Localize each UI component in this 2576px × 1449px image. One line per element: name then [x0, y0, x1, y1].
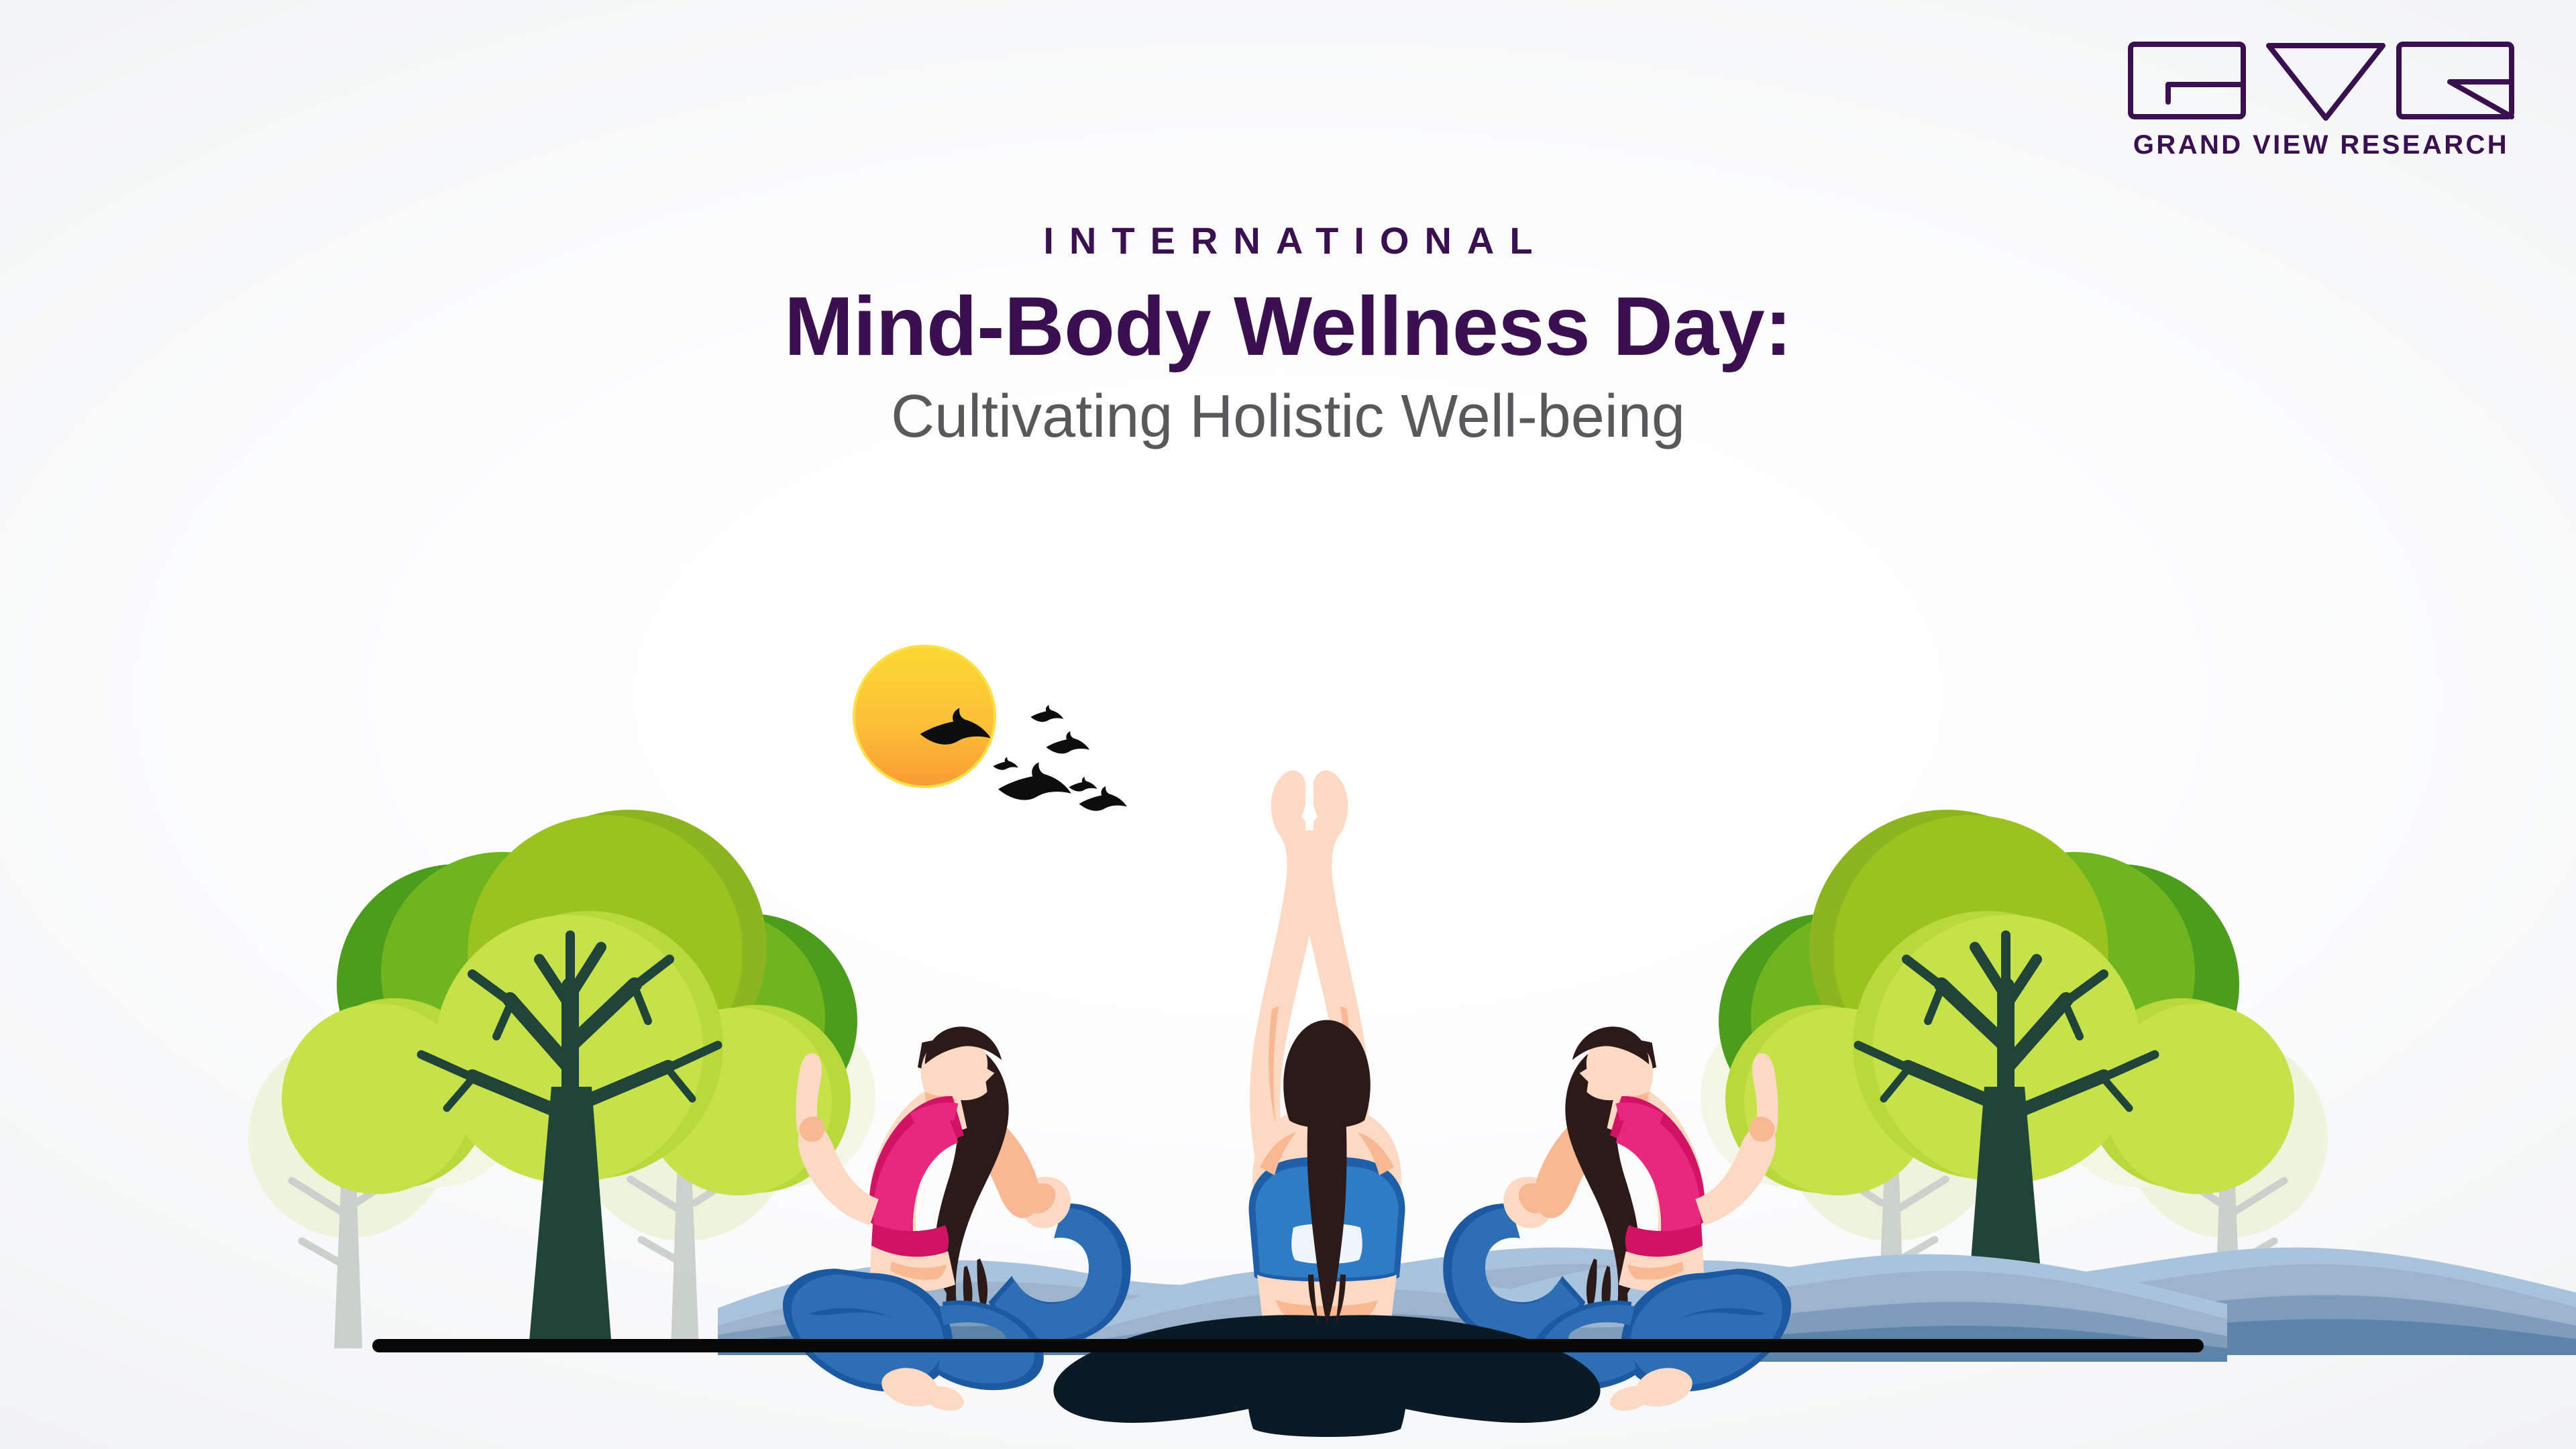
headline-block: INTERNATIONAL Mind-Body Wellness Day: Cu…: [0, 221, 2576, 448]
page-subtitle: Cultivating Holistic Well-being: [0, 385, 2576, 449]
poster-canvas: GRAND VIEW RESEARCH INTERNATIONAL Mind-B…: [0, 0, 2576, 1449]
yogi-center-lotus-pose: [1053, 771, 1600, 1437]
eyebrow-text: INTERNATIONAL: [0, 221, 2576, 261]
gvr-logo-mark: [2127, 40, 2516, 121]
brand-logo[interactable]: GRAND VIEW RESEARCH: [2106, 40, 2536, 158]
wellness-illustration: [0, 0, 2576, 1449]
page-title: Mind-Body Wellness Day:: [0, 284, 2576, 370]
sun: [853, 645, 996, 788]
brand-name: GRAND VIEW RESEARCH: [2133, 131, 2509, 158]
tree-cluster-left: [248, 810, 875, 1348]
